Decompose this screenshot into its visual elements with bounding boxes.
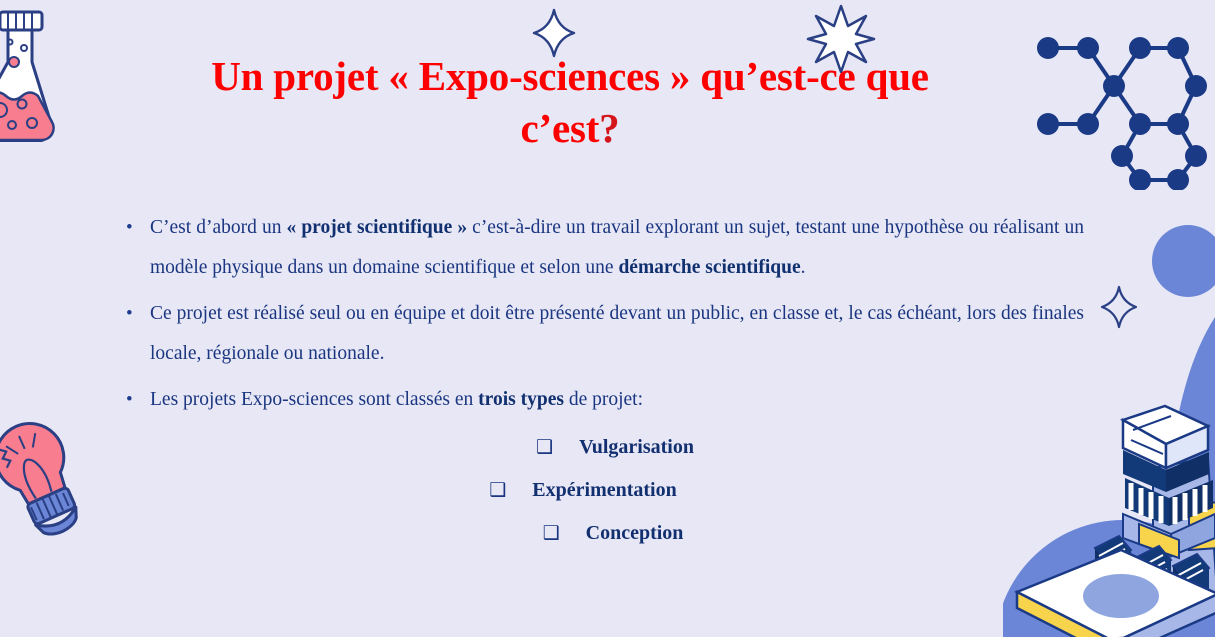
text-segment: .	[801, 257, 806, 278]
blue-blob-shape	[1148, 280, 1215, 570]
bullet-item: • Les projets Expo-sciences sont classés…	[118, 380, 1084, 420]
molecule-icon	[1030, 28, 1210, 190]
page-title: Un projet « Expo-sciences » qu’est-ce qu…	[120, 50, 1020, 155]
bullet-item: • C’est d’abord un « projet scientifique…	[118, 208, 1084, 288]
slide-content: • C’est d’abord un « projet scientifique…	[118, 208, 1084, 555]
text-segment: Les projets Expo-sciences sont classés e…	[150, 389, 478, 410]
bullet-marker: •	[118, 294, 150, 334]
checkbox-square-icon: ❑	[536, 438, 553, 457]
presentation-slide: Un projet « Expo-sciences » qu’est-ce qu…	[0, 0, 1215, 637]
list-item-label: Vulgarisation	[579, 436, 694, 459]
text-segment-bold: « projet scientifique »	[287, 217, 468, 238]
text-segment-bold: trois types	[478, 389, 564, 410]
lightbulb-icon	[0, 412, 92, 537]
checkbox-square-icon: ❑	[543, 524, 560, 543]
bullet-text: Les projets Expo-sciences sont classés e…	[150, 380, 1084, 420]
title-line-2: c’est	[521, 105, 600, 151]
list-item: ❑ Conception	[118, 512, 1084, 555]
list-item: ❑ Vulgarisation	[118, 426, 1084, 469]
text-segment: Ce projet est réalisé seul ou en équipe …	[150, 303, 1084, 364]
sparkle-diamond-icon	[1100, 285, 1138, 329]
bullet-item: • Ce projet est réalisé seul ou en équip…	[118, 294, 1084, 374]
text-segment-bold: démarche scientifique	[618, 257, 800, 278]
bullet-marker: •	[118, 208, 150, 248]
title-question-mark: ?	[599, 105, 619, 151]
checkbox-square-icon: ❑	[489, 481, 506, 500]
list-item-label: Conception	[586, 522, 684, 545]
project-types-list: ❑ Vulgarisation ❑ Expérimentation ❑ Conc…	[118, 426, 1084, 555]
title-line-1: Un projet « Expo-sciences » qu’est-ce qu…	[211, 53, 929, 99]
bullet-text: Ce projet est réalisé seul ou en équipe …	[150, 294, 1084, 374]
flask-icon	[0, 0, 90, 142]
list-item: ❑ Expérimentation	[118, 469, 1084, 512]
text-segment: C’est d’abord un	[150, 217, 287, 238]
bullet-marker: •	[118, 380, 150, 420]
blue-circle-shape	[1152, 225, 1215, 297]
title-block: Un projet « Expo-sciences » qu’est-ce qu…	[120, 50, 1020, 155]
text-segment: de projet:	[564, 389, 643, 410]
list-item-label: Expérimentation	[532, 479, 676, 502]
bullet-text: C’est d’abord un « projet scientifique »…	[150, 208, 1084, 288]
